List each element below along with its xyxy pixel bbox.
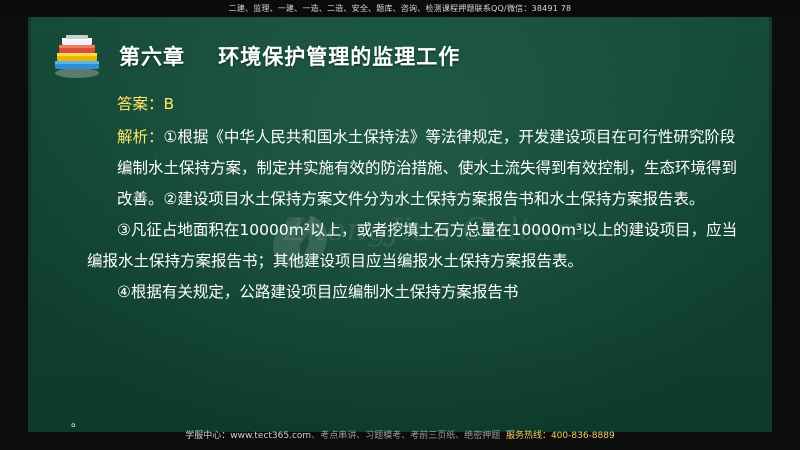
analysis-label: 解析：	[117, 128, 164, 146]
chapter-number: 第六章	[119, 45, 185, 69]
slide-header: 第六章 环境保护管理的监理工作	[49, 33, 460, 79]
analysis-paragraph-2: ③凡征占地面积在10000m²以上，或者挖填土石方总量在10000m³以上的建设…	[87, 215, 747, 277]
stacked-books-icon	[49, 33, 105, 79]
footer-hotline-label: 服务热线：	[506, 431, 551, 441]
footer-bar: 学服中心：www.tect365.com、考点串讲、习题模考、考前三页纸、绝密押…	[0, 428, 800, 441]
answer-line: 答案：B	[117, 89, 747, 120]
answer-value: B	[164, 95, 175, 113]
greenboard-panel: ZhongJiao Culture 第六章 环境保护管理的监理工作	[28, 17, 772, 432]
page-title: 第六章 环境保护管理的监理工作	[119, 41, 460, 71]
slide-root: 二建、监理、一建、一造、二造、安全、题库、咨询、检测课程押题联系QQ/微信：38…	[0, 0, 800, 450]
analysis-block: 解析：①根据《中华人民共和国水土保持法》等法律规定，开发建设项目在可行性研究阶段…	[87, 122, 747, 308]
footer-left-text: 学服中心：www.tect365.com	[185, 431, 311, 441]
right-frame-strip	[772, 17, 800, 432]
footer-phone: 400-836-8889	[551, 431, 615, 441]
analysis-text-1: ①根据《中华人民共和国水土保持法》等法律规定，开发建设项目在可行性研究阶段编制水…	[117, 128, 737, 208]
answer-label: 答案：	[117, 95, 164, 113]
chapter-title-text: 环境保护管理的监理工作	[218, 45, 460, 69]
left-frame-strip	[0, 17, 28, 432]
top-marquee-bar: 二建、监理、一建、一造、二造、安全、题库、咨询、检测课程押题联系QQ/微信：38…	[0, 0, 800, 17]
analysis-paragraph-3: ④根据有关规定，公路建设项目应编制水土保持方案报告书	[87, 277, 747, 308]
slide-content: 答案：B 解析：①根据《中华人民共和国水土保持法》等法律规定，开发建设项目在可行…	[87, 89, 747, 308]
analysis-paragraph-1: 解析：①根据《中华人民共和国水土保持法》等法律规定，开发建设项目在可行性研究阶段…	[117, 122, 747, 215]
footer-middle-text: 、考点串讲、习题模考、考前三页纸、绝密押题	[311, 431, 500, 441]
